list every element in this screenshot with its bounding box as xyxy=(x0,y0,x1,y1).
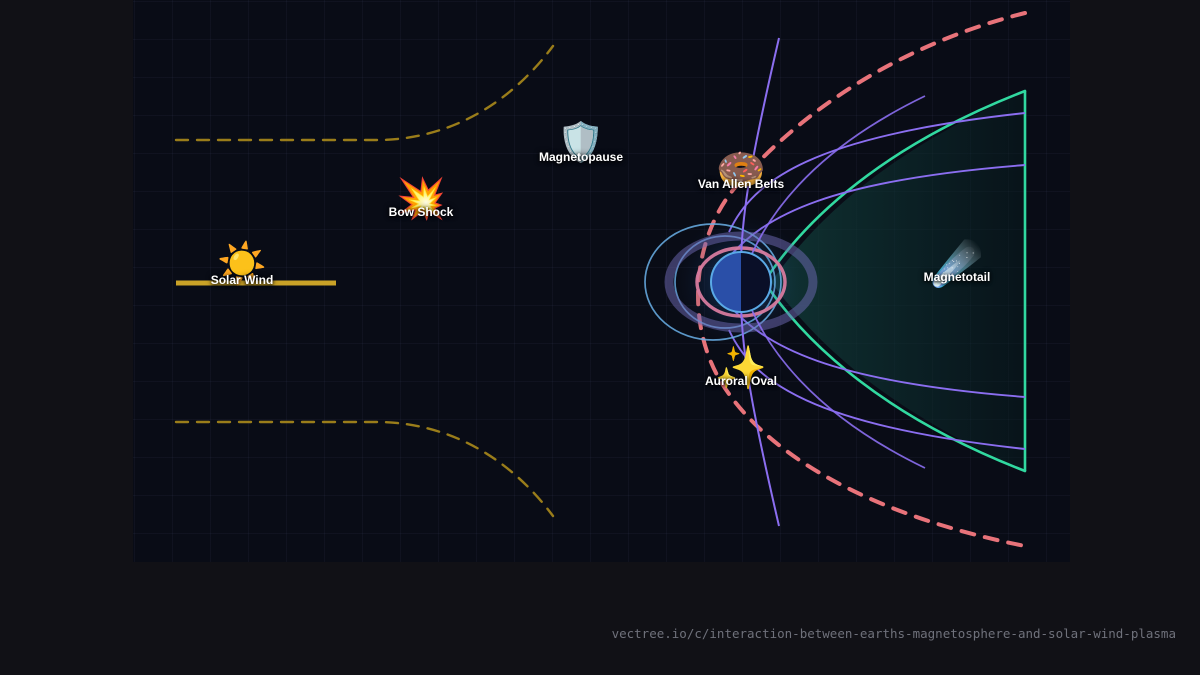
node-label-magnetotail: Magnetotail xyxy=(924,271,991,283)
footer: Vectree Interaction between Earth's magn… xyxy=(0,562,1200,675)
node-magnetotail[interactable]: ☄️ Magnetotail xyxy=(931,243,983,285)
node-bow-shock[interactable]: 💥 Bow Shock xyxy=(396,179,446,219)
diagram-canvas: ☀️ Solar Wind 💥 Bow Shock 🛡️ Magnetopaus… xyxy=(133,0,1070,562)
node-van-allen-belts[interactable]: 🍩 Van Allen Belts xyxy=(716,150,766,190)
solar-wind-streamline-bottom xyxy=(176,422,553,516)
node-label-magnetopause: Magnetopause xyxy=(539,151,623,163)
footer-url: vectree.io/c/interaction-between-earths-… xyxy=(612,626,1176,641)
node-label-bow-shock: Bow Shock xyxy=(389,206,454,218)
node-label-solar-wind: Solar Wind xyxy=(211,274,274,286)
node-solar-wind[interactable]: ☀️ Solar Wind xyxy=(217,244,267,284)
node-label-van-allen-belts: Van Allen Belts xyxy=(698,178,784,190)
solar-wind-streamline-top xyxy=(176,46,553,140)
node-magnetopause[interactable]: 🛡️ Magnetopause xyxy=(557,123,604,161)
node-auroral-oval[interactable]: ✨ Auroral Oval xyxy=(715,347,767,389)
node-label-auroral-oval: Auroral Oval xyxy=(705,375,777,387)
